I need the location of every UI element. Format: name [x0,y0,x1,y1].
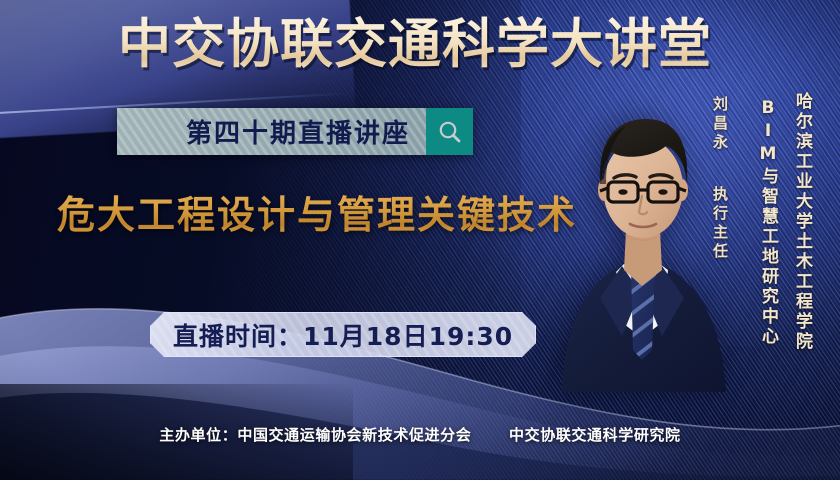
footer: 主办单位：中国交通运输协会新技术促进分会 中交协联交通科学研究院 [0,424,840,445]
search-icon[interactable] [426,108,473,155]
webinar-poster: 中交协联交通科学大讲堂 第四十期直播讲座 危大工程设计与管理关键技术 直播时间：… [0,0,840,480]
speaker-role: 执行主任 [710,186,731,262]
page-title: 中交协联交通科学大讲堂 [118,14,712,76]
lecture-title: 危大工程设计与管理关键技术 [57,191,577,239]
episode-bar: 第四十期直播讲座 [117,108,426,155]
episode-label: 第四十期直播讲座 [186,113,426,150]
speaker-org-line2: BIM与智慧工地研究中心 [756,98,781,347]
broadcast-time-label: 直播时间：11月18日19:30 [173,317,513,353]
speaker-portrait [556,92,734,392]
footer-institute: 中交协联交通科学研究院 [509,426,681,444]
speaker-org-line1: 哈尔滨工业大学土木工程学院 [790,92,815,352]
footer-organizer: 主办单位：中国交通运输协会新技术促进分会 [159,426,471,444]
episode-banner: 第四十期直播讲座 [117,108,473,155]
broadcast-time-badge: 直播时间：11月18日19:30 [150,312,536,357]
speaker-name: 刘昌永 [710,96,731,153]
